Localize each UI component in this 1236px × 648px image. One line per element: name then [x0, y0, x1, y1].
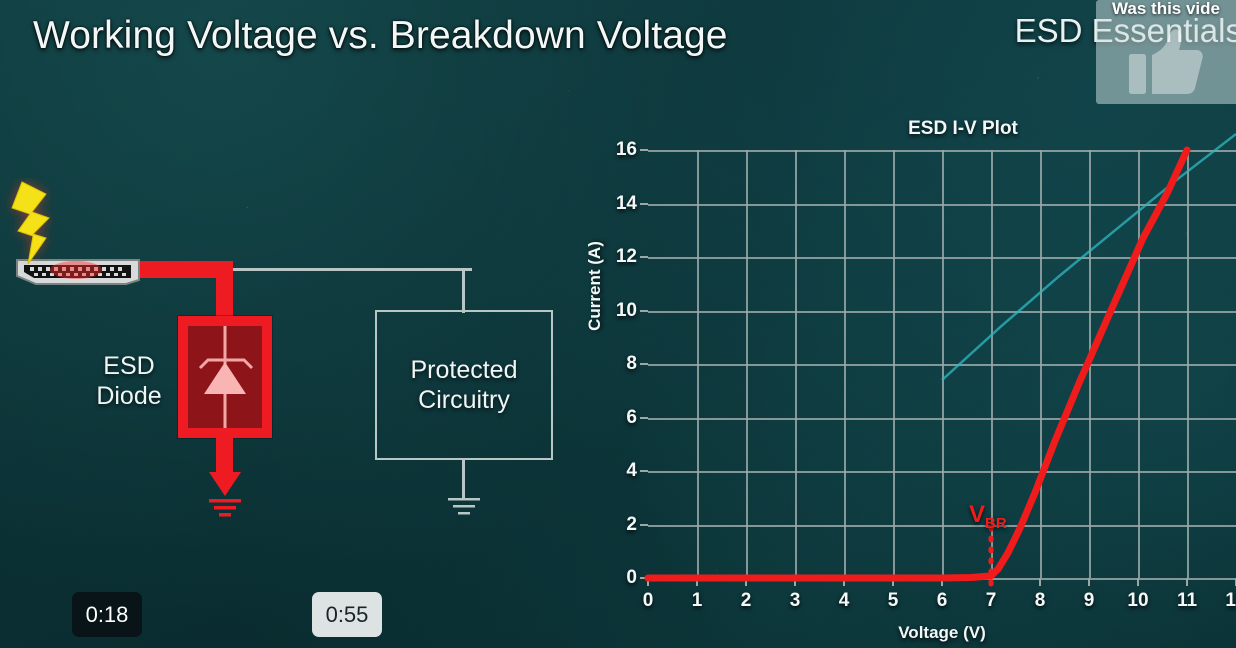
x-tick-label: 3: [790, 590, 801, 612]
signal-wire-to-load: [462, 268, 465, 313]
y-tick-mark: [640, 470, 648, 472]
x-tick-label: 0: [643, 590, 654, 612]
esd-diode-label: ESD Diode: [88, 352, 170, 411]
plot-area: 02468101214160123456789101112 VBR: [648, 150, 1236, 578]
protected-label-line2: Circuitry: [410, 385, 517, 415]
x-tick-label: 12: [1225, 590, 1236, 612]
page-title: Working Voltage vs. Breakdown Voltage: [33, 14, 728, 58]
y-tick-mark: [640, 363, 648, 365]
x-tick-mark: [1039, 578, 1041, 586]
x-tick-label: 7: [986, 590, 997, 612]
x-tick-label: 6: [937, 590, 948, 612]
ground-symbol-icon: [444, 496, 484, 520]
x-tick-label: 2: [741, 590, 752, 612]
chart-title: ESD I-V Plot: [833, 118, 1093, 140]
x-tick-mark: [1088, 578, 1090, 586]
y-tick-label: 10: [616, 300, 637, 322]
background-accent-curve: [942, 134, 1236, 380]
y-tick-label: 4: [626, 460, 637, 482]
x-tick-mark: [1137, 578, 1139, 586]
y-tick-label: 2: [626, 514, 637, 536]
breakdown-voltage-label: V: [969, 501, 985, 528]
x-tick-label: 10: [1127, 590, 1148, 612]
y-tick-label: 0: [626, 567, 637, 589]
x-axis-label: Voltage (V): [648, 623, 1236, 643]
surge-ground-arrow-icon: [204, 470, 246, 518]
tvs-zener-diode-icon: [188, 326, 262, 428]
thumbs-up-icon[interactable]: [1127, 26, 1205, 98]
y-axis-label: Current (A): [585, 211, 605, 361]
esd-diode-label-line1: ESD: [88, 352, 170, 382]
load-wire-to-ground: [462, 460, 465, 498]
x-tick-label: 4: [839, 590, 850, 612]
x-tick-label: 5: [888, 590, 899, 612]
timestamp-total[interactable]: 0:55: [312, 592, 382, 637]
y-tick-label: 14: [616, 193, 637, 215]
y-tick-mark: [640, 149, 648, 151]
breakdown-voltage-annotation: VBR: [969, 503, 1007, 531]
y-tick-label: 12: [616, 246, 637, 268]
esd-diode-component: [178, 316, 272, 438]
y-tick-mark: [640, 203, 648, 205]
protected-label-line1: Protected: [410, 355, 517, 385]
esd-protection-circuit-diagram: ESD Diode Protected Circuitry: [0, 170, 580, 560]
lightning-bolt-icon: [2, 178, 68, 264]
protected-circuitry-label: Protected Circuitry: [410, 355, 517, 415]
surge-wire-vertical: [216, 261, 233, 323]
breakdown-voltage-subscript: BR: [985, 514, 1007, 531]
y-tick-label: 16: [616, 139, 637, 161]
x-tick-label: 11: [1177, 590, 1197, 612]
protected-circuitry-block: Protected Circuitry: [375, 310, 553, 460]
x-tick-label: 1: [692, 590, 703, 612]
series-layer: [648, 150, 1236, 578]
iv-curve: [648, 150, 1187, 578]
y-tick-label: 6: [626, 407, 637, 429]
feedback-prompt-text: Was this vide: [1096, 0, 1236, 19]
y-tick-mark: [640, 256, 648, 258]
surge-wire-horizontal: [136, 261, 228, 278]
y-tick-mark: [640, 524, 648, 526]
y-tick-label: 8: [626, 353, 637, 375]
x-tick-label: 8: [1035, 590, 1046, 612]
x-tick-label: 9: [1084, 590, 1095, 612]
esd-diode-label-line2: Diode: [88, 382, 170, 412]
feedback-overlay-panel[interactable]: Was this vide: [1096, 0, 1236, 104]
x-tick-mark: [1186, 578, 1188, 586]
y-tick-mark: [640, 310, 648, 312]
esd-iv-chart: ESD I-V Plot Current (A) Voltage (V) 024…: [575, 108, 1236, 648]
y-tick-mark: [640, 417, 648, 419]
timestamp-current[interactable]: 0:18: [72, 592, 142, 637]
